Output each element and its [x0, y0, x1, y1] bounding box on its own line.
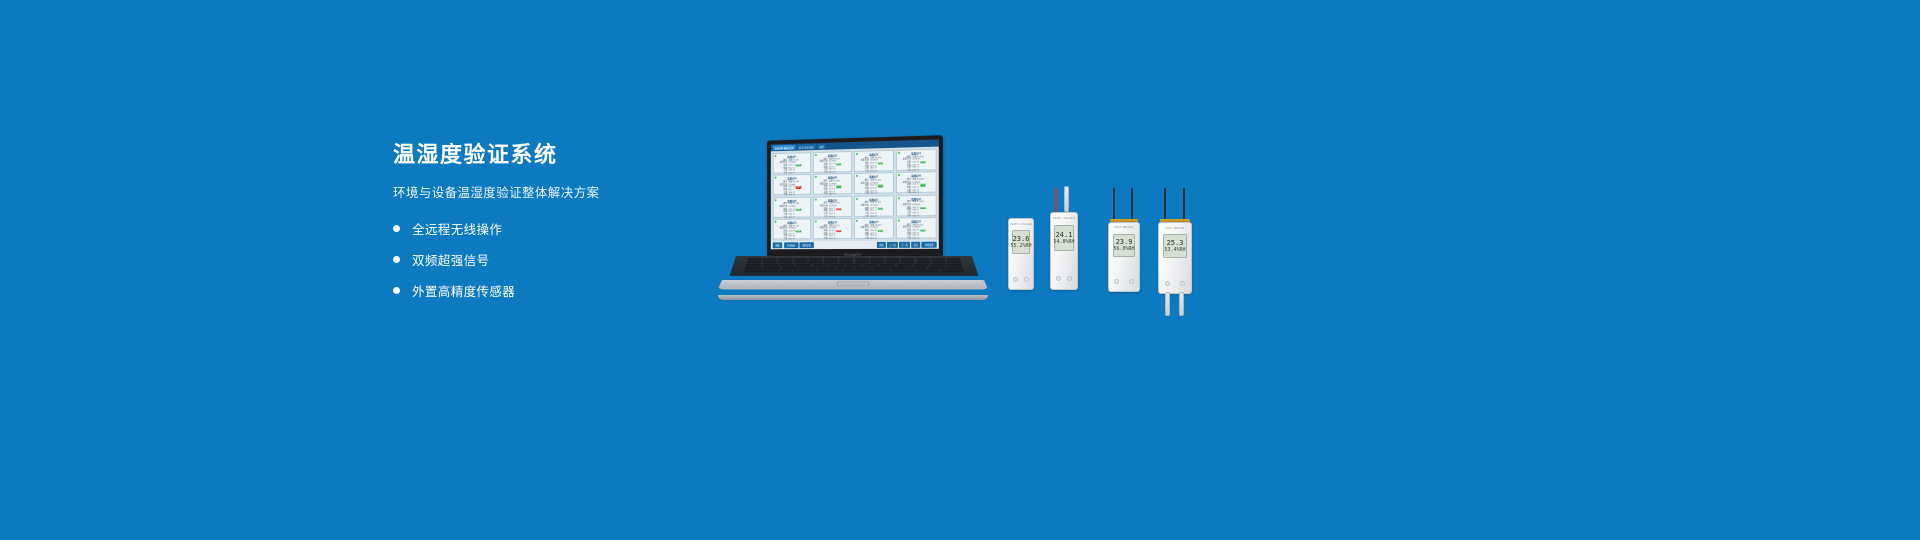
pager-next-button[interactable]: 下一页	[899, 242, 910, 248]
handheld-logger-1: TEMP LOGGER 23.6 55.2%RH	[1008, 218, 1034, 290]
bullet-dot-icon	[393, 256, 400, 263]
device-key-right[interactable]	[1067, 276, 1072, 281]
monitoring-card[interactable]: 监测点10编号:温度 ST-110采集时间:11:28:05温度:30.2 ℃ …	[813, 196, 852, 217]
bullet-dot-icon	[393, 287, 400, 294]
keyboard-key[interactable]	[842, 270, 865, 272]
monitoring-card[interactable]: 监测点09编号:温度 ST-109采集时间:11:28:05温度:26.5 ℃ …	[773, 196, 812, 217]
monitoring-card[interactable]: 监测点11编号:温度 ST-111采集时间:11:28:05温度:24.7 ℃ …	[854, 195, 894, 217]
lcd-temperature: 23.6	[1013, 236, 1030, 243]
monitoring-card[interactable]: 监测点15编号:温度 ST-115采集时间:11:28:05温度:24.0 ℃ …	[854, 218, 894, 239]
card-row-value: 18.0 ℃	[829, 238, 850, 241]
feature-label: 双频超强信号	[412, 250, 489, 269]
status-dot-icon	[856, 153, 858, 155]
status-dot-icon	[856, 220, 858, 222]
keyboard-key[interactable]	[855, 267, 872, 269]
handheld-logger-3: RH/T METER 23.9 56.0%RH	[1108, 222, 1140, 292]
feature-label: 外置高精度传感器	[412, 281, 515, 300]
keyboard-row	[744, 270, 965, 272]
keyboard-key[interactable]	[777, 261, 792, 263]
device-keypad[interactable]	[1114, 279, 1133, 284]
lcd-humidity: 54.8%RH	[1053, 240, 1074, 245]
keyboard-key[interactable]	[846, 264, 862, 266]
laptop-base	[718, 256, 988, 298]
lcd-temperature: 23.9	[1116, 239, 1133, 246]
keyboard-key[interactable]	[916, 258, 931, 260]
device-body: TEMP LOGGER 23.6 55.2%RH	[1008, 218, 1034, 290]
keyboard-key[interactable]	[891, 267, 908, 269]
device-keypad[interactable]	[1165, 281, 1186, 286]
card-row-key: 下限:	[898, 238, 912, 241]
sensor-probe-icon	[1064, 186, 1069, 212]
device-keypad[interactable]	[1013, 277, 1028, 282]
device-key-left[interactable]	[1013, 277, 1018, 282]
keyboard-key[interactable]	[818, 270, 841, 272]
keyboard-key[interactable]	[839, 258, 853, 260]
device-body: RH/T METER 25.3 53.4%RH	[1158, 222, 1192, 294]
keyboard-key[interactable]	[885, 258, 899, 260]
pager-first-button[interactable]: 首页	[877, 242, 885, 248]
probe-cable-red-icon	[1055, 188, 1057, 212]
status-dot-icon	[898, 152, 900, 154]
list-item: 全远程无线操作	[393, 219, 723, 238]
palm-rest	[718, 280, 988, 289]
pager-last-button[interactable]: 末页	[912, 242, 921, 248]
device-lcd-screen: 23.9 56.0%RH	[1113, 234, 1136, 257]
keyboard-key[interactable]	[747, 258, 762, 260]
monitoring-card[interactable]: 监测点06编号:温度 ST-106采集时间:11:28:05温度:24.4 ℃ …	[813, 173, 852, 195]
keyboard-row	[747, 258, 960, 260]
device-key-left[interactable]	[1114, 279, 1119, 284]
device-key-right[interactable]	[1129, 279, 1134, 284]
keyboard-key[interactable]	[901, 261, 916, 263]
keyboard-row	[745, 267, 964, 269]
monitoring-card[interactable]: 监测点05编号:温度 ST-105采集时间:11:28:05温度:29.7 ℃ …	[773, 174, 812, 195]
keyboard-key[interactable]	[880, 264, 896, 266]
device-lcd-screen: 25.3 53.4%RH	[1163, 234, 1187, 258]
monitoring-card[interactable]: 监测点16编号:温度 ST-116采集时间:11:28:05温度:23.3 ℃ …	[896, 217, 937, 239]
card-row-value: 18.0 ℃	[789, 238, 809, 241]
device-lcd-screen: 23.6 55.2%RH	[1012, 230, 1030, 254]
card-row-key: 下限:	[856, 238, 870, 241]
keyboard-key[interactable]	[863, 264, 879, 266]
monitoring-card-grid: 监测点01编号:温度 ST-101采集时间:11:28:05温度:23.6 ℃ …	[771, 147, 939, 242]
keyboard-row	[746, 261, 961, 263]
keyboard-key[interactable]	[896, 264, 912, 266]
device-key-right[interactable]	[1180, 281, 1185, 286]
monitoring-card[interactable]: 监测点03编号:温度 ST-103采集时间:11:28:05温度:23.9 ℃ …	[854, 150, 894, 172]
keyboard-key[interactable]	[900, 258, 914, 260]
system-settings-button[interactable]: 系统设置	[922, 242, 937, 248]
lcd-humidity: 56.0%RH	[1113, 247, 1134, 252]
tab-monitoring[interactable]: 设备管理 数据 监测	[773, 145, 796, 151]
keyboard-key[interactable]	[916, 270, 940, 272]
lcd-temperature: 25.3	[1167, 240, 1184, 247]
keyboard-key[interactable]	[809, 258, 823, 260]
device-key-left[interactable]	[1056, 276, 1061, 281]
list-item: 外置高精度传感器	[393, 281, 723, 300]
keyboard-key[interactable]	[913, 264, 929, 266]
device-model-label: TEMP LOGGER	[1051, 217, 1077, 220]
card-row-value: 18.0 ℃	[912, 238, 934, 241]
device-body: TEMP LOGGER 24.1 54.8%RH	[1050, 212, 1078, 290]
antenna-right-icon	[1183, 188, 1185, 222]
keyboard-key[interactable]	[763, 258, 778, 260]
card-row: 下限:18.0 ℃	[815, 238, 850, 241]
device-keypad[interactable]	[1056, 276, 1073, 281]
keyboard-key[interactable]	[762, 264, 778, 266]
sensor-probe-left-icon	[1165, 292, 1170, 316]
card-row-key: 下限:	[815, 238, 829, 241]
keyboard-key[interactable]	[793, 261, 808, 263]
lcd-humidity: 55.2%RH	[1010, 244, 1031, 249]
hero-text-block: 温湿度验证系统 环境与设备温湿度验证整体解决方案 全远程无线操作 双频超强信号 …	[393, 142, 723, 312]
status-dot-icon	[815, 154, 817, 156]
keyboard-key[interactable]	[744, 270, 768, 272]
keyboard-key[interactable]	[768, 270, 792, 272]
list-item: 双频超强信号	[393, 250, 723, 269]
keyboard-row	[746, 264, 963, 266]
keyboard-key[interactable]	[746, 264, 762, 266]
keyboard-key[interactable]	[909, 267, 926, 269]
device-key-right[interactable]	[1024, 277, 1029, 282]
keyboard-key[interactable]	[808, 261, 822, 263]
card-row-key: 下限:	[775, 238, 788, 241]
alarm-settings-button[interactable]: 报警设置	[800, 242, 814, 248]
keyboard-key[interactable]	[839, 261, 853, 263]
laptop-front-edge	[718, 295, 988, 300]
keyboard-key[interactable]	[824, 261, 838, 263]
keyboard[interactable]	[744, 258, 965, 273]
status-dot-icon	[775, 155, 777, 157]
keyboard-key[interactable]	[930, 264, 946, 266]
device-key-left[interactable]	[1165, 281, 1170, 286]
keyboard-key[interactable]	[800, 267, 817, 269]
keyboard-key[interactable]	[829, 264, 845, 266]
keyboard-key[interactable]	[927, 267, 945, 269]
page-subtitle: 环境与设备温湿度验证整体解决方案	[393, 182, 723, 201]
export-report-button[interactable]: 导出报表	[784, 242, 798, 248]
trackpad[interactable]	[837, 282, 869, 286]
keyboard-key[interactable]	[855, 258, 869, 260]
card-row: 下限:18.0 ℃	[775, 238, 809, 241]
keyboard-key[interactable]	[870, 261, 884, 263]
handheld-logger-2: TEMP LOGGER 24.1 54.8%RH	[1050, 212, 1078, 290]
feature-list: 全远程无线操作 双频超强信号 外置高精度传感器	[393, 219, 723, 300]
keyboard-key[interactable]	[745, 267, 763, 269]
keyboard-key[interactable]	[836, 267, 853, 269]
keyboard-key[interactable]	[931, 258, 946, 260]
antenna-right-icon	[1131, 188, 1133, 222]
keyboard-key[interactable]	[818, 267, 835, 269]
feature-label: 全远程无线操作	[412, 219, 502, 238]
page-title: 温湿度验证系统	[393, 142, 723, 168]
keyboard-key[interactable]	[946, 258, 961, 260]
antenna-left-icon	[1164, 188, 1166, 222]
keyboard-key[interactable]	[855, 261, 869, 263]
tab-history[interactable]: 历史 查询 报表	[797, 144, 815, 149]
antenna-left-icon	[1113, 188, 1115, 222]
card-row: 下限:18.0 ℃	[898, 238, 934, 241]
monitoring-card[interactable]: 监测点01编号:温度 ST-101采集时间:11:28:05温度:23.6 ℃ …	[773, 152, 812, 174]
monitoring-card[interactable]: 监测点04编号:温度 ST-104采集时间:11:28:05温度:25.3 ℃ …	[896, 149, 937, 171]
keyboard-key[interactable]	[746, 261, 761, 263]
sensor-probe-right-icon	[1179, 292, 1184, 316]
monitoring-card[interactable]: 监测点14编号:温度 ST-114采集时间:11:28:05温度:31.4 ℃ …	[813, 218, 852, 239]
keyboard-key[interactable]	[793, 270, 817, 272]
pager-prev-button[interactable]: 上一页	[887, 242, 898, 248]
status-dot-icon	[775, 199, 777, 201]
device-model-label: RH/T METER	[1109, 226, 1139, 229]
card-row-value: 18.0 ℃	[870, 238, 891, 241]
keyboard-key[interactable]	[796, 264, 812, 266]
status-dot-icon	[815, 198, 817, 200]
keyboard-key[interactable]	[931, 261, 946, 263]
keyboard-key[interactable]	[946, 264, 962, 266]
refresh-button[interactable]: 刷新	[773, 242, 783, 248]
status-dot-icon	[898, 220, 900, 222]
lcd-temperature: 24.1	[1056, 232, 1073, 239]
device-body: RH/T METER 23.9 56.0%RH	[1108, 222, 1140, 292]
device-model-label: TEMP LOGGER	[1009, 223, 1033, 226]
monitoring-card[interactable]: 监测点02编号:温度 ST-102采集时间:11:28:05温度:24.1 ℃ …	[813, 151, 852, 173]
monitoring-card[interactable]: 监测点08编号:温度 ST-108采集时间:11:28:05温度:22.8 ℃ …	[896, 172, 937, 194]
keyboard-key[interactable]	[870, 258, 884, 260]
monitoring-card[interactable]: 监测点07编号:温度 ST-107采集时间:11:28:05温度:23.2 ℃ …	[854, 172, 894, 194]
keyboard-key[interactable]	[813, 264, 829, 266]
keyboard-key[interactable]	[824, 258, 838, 260]
keyboard-key[interactable]	[762, 261, 777, 263]
monitoring-card[interactable]: 监测点13编号:温度 ST-113采集时间:11:28:05温度:25.9 ℃ …	[773, 219, 812, 240]
handheld-logger-4: RH/T METER 25.3 53.4%RH	[1158, 222, 1192, 294]
keyboard-key[interactable]	[940, 270, 964, 272]
keyboard-key[interactable]	[778, 258, 793, 260]
tab-alarm[interactable]: 报警	[817, 144, 825, 149]
status-dot-icon	[856, 198, 858, 200]
laptop-screen: 设备管理 数据 监测 历史 查询 报表 报警 监测点01编号:温度 ST-101…	[771, 139, 939, 249]
device-lcd-screen: 24.1 54.8%RH	[1054, 225, 1074, 251]
keyboard-key[interactable]	[946, 267, 964, 269]
keyboard-key[interactable]	[885, 261, 899, 263]
keyboard-key[interactable]	[873, 267, 890, 269]
device-model-label: RH/T METER	[1159, 227, 1191, 230]
keyboard-key[interactable]	[916, 261, 931, 263]
laptop-lid: 设备管理 数据 监测 历史 查询 报表 报警 监测点01编号:温度 ST-101…	[767, 135, 943, 260]
bullet-dot-icon	[393, 225, 400, 232]
keyboard-key[interactable]	[781, 267, 798, 269]
status-dot-icon	[898, 197, 900, 199]
keyboard-key[interactable]	[867, 270, 890, 272]
keyboard-key[interactable]	[891, 270, 915, 272]
hero-banner: 温湿度验证系统 环境与设备温湿度验证整体解决方案 全远程无线操作 双频超强信号 …	[0, 0, 1920, 540]
keyboard-key[interactable]	[779, 264, 795, 266]
lcd-humidity: 53.4%RH	[1164, 248, 1185, 253]
keyboard-key[interactable]	[763, 267, 781, 269]
keyboard-key[interactable]	[793, 258, 807, 260]
card-row: 下限:18.0 ℃	[856, 238, 891, 241]
laptop-product-image: 设备管理 数据 监测 历史 查询 报表 报警 监测点01编号:温度 ST-101…	[718, 138, 988, 298]
keyboard-key[interactable]	[947, 261, 962, 263]
monitoring-card[interactable]: 监测点12编号:温度 ST-112采集时间:11:28:05温度:23.5 ℃ …	[896, 194, 937, 216]
